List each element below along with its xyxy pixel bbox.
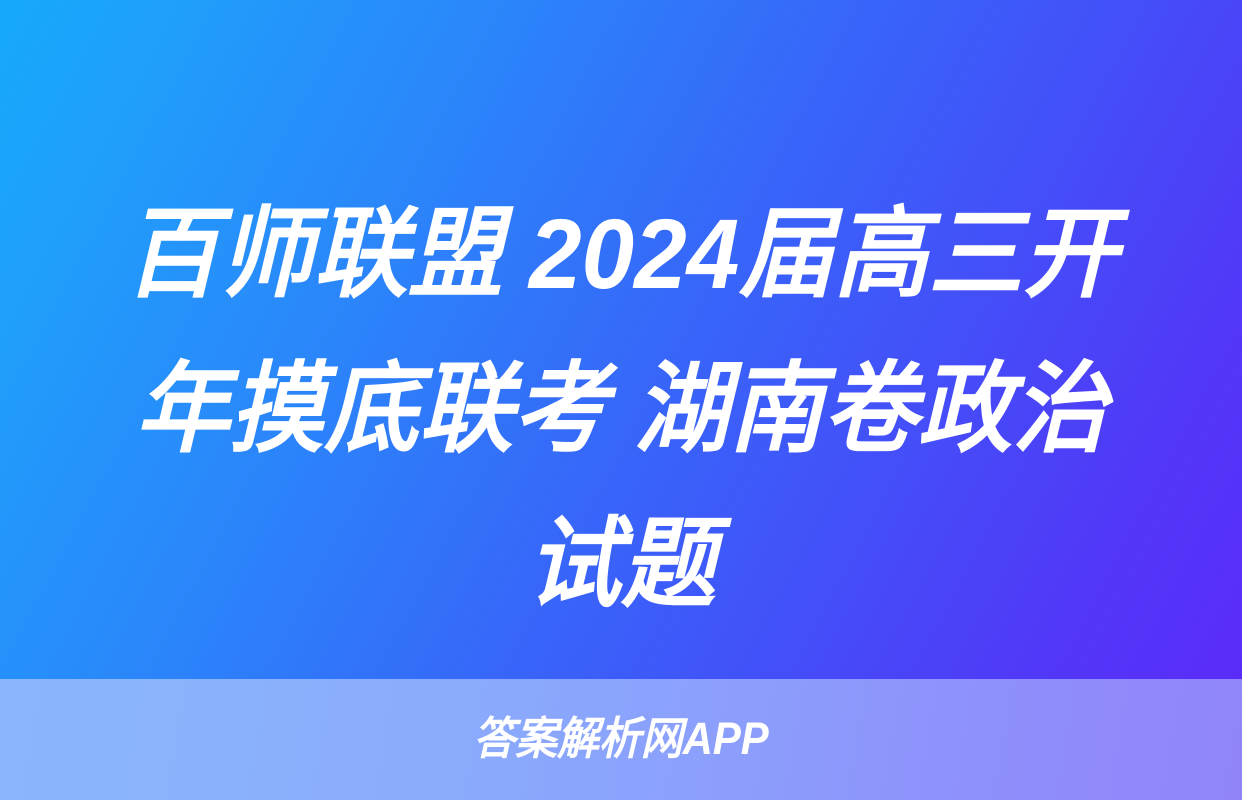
hero-gradient-banner: 百师联盟 2024届高三开 年摸底联考 湖南卷政治 试题 bbox=[0, 0, 1242, 679]
poster-title: 百师联盟 2024届高三开 年摸底联考 湖南卷政治 试题 bbox=[0, 176, 1242, 641]
title-line-2: 年摸底联考 湖南卷政治 bbox=[62, 331, 1179, 486]
title-line-3: 试题 bbox=[62, 486, 1179, 641]
title-line-1: 百师联盟 2024届高三开 bbox=[62, 176, 1179, 331]
poster-canvas: 百师联盟 2024届高三开 年摸底联考 湖南卷政治 试题 答案解析网APP bbox=[0, 0, 1242, 800]
app-watermark-label: 答案解析网APP bbox=[43, 715, 1198, 763]
footer-strip: 答案解析网APP bbox=[0, 679, 1242, 800]
